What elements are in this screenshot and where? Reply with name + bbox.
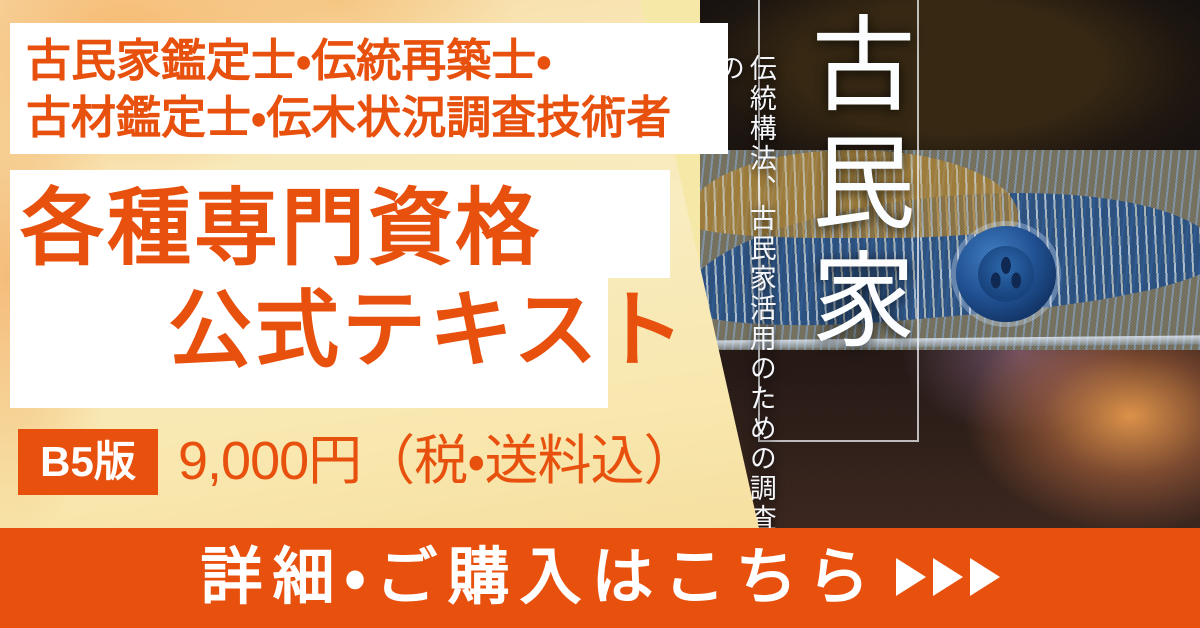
cta-bar[interactable]: 詳細・ご購入はこちら	[0, 528, 1200, 628]
headline-text: 古民家鑑定士・伝統再築士・ 古材鑑定士・伝木状況調査技術者	[26, 32, 726, 146]
play-arrow-icon	[896, 558, 926, 596]
play-arrow-icon	[933, 558, 963, 596]
cta-label: 詳細・ご購入はこちら	[200, 547, 879, 609]
promo-banner: 古民家 伝統構法、古民家活用のための調査と再生の 古民家鑑定士・伝統再築士・ 古…	[0, 0, 1200, 628]
headline-panel: 古民家鑑定士・伝統再築士・ 古材鑑定士・伝木状況調査技術者	[10, 23, 728, 154]
main-title-line2: 公式テキスト	[168, 288, 687, 372]
cover-title-text: 古民家	[758, 10, 915, 440]
price-text: 9,000円（税・送料込）	[178, 434, 697, 488]
format-badge: B5版	[18, 429, 158, 495]
format-badge-label: B5版	[40, 441, 136, 483]
cta-arrows-icon	[896, 558, 1000, 596]
main-title-line1: 各種専門資格	[20, 186, 542, 270]
play-arrow-icon	[970, 558, 1000, 596]
book-cover-image: 古民家 伝統構法、古民家活用のための調査と再生の	[700, 0, 1200, 533]
